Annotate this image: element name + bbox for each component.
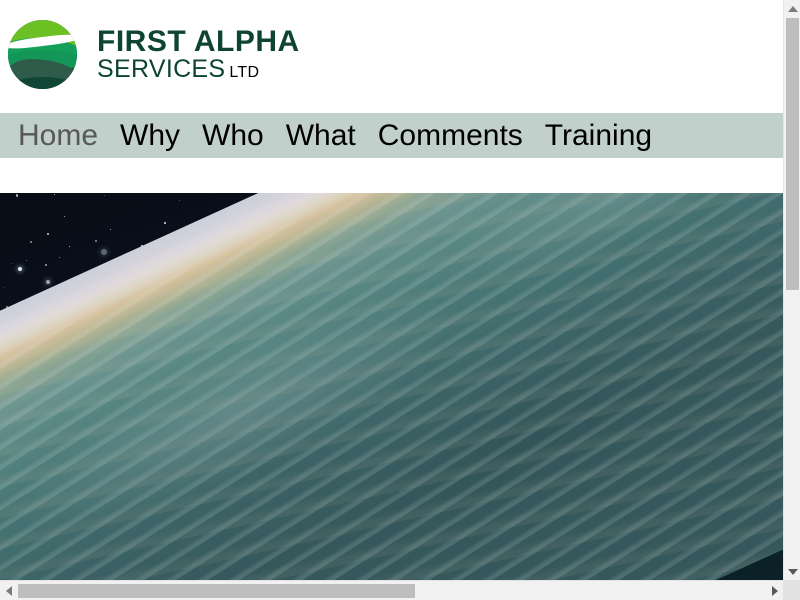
vertical-scrollbar-thumb[interactable] [786, 18, 799, 290]
star-dot [4, 287, 5, 288]
nav-item-training[interactable]: Training [545, 121, 652, 151]
star-dot [46, 280, 50, 284]
scroll-left-arrow-icon[interactable] [0, 581, 17, 600]
star-dot [95, 240, 97, 242]
star-dot [47, 233, 50, 236]
scroll-down-arrow-icon[interactable] [784, 563, 800, 580]
brand-text: FIRST ALPHA SERVICESLTD [97, 27, 300, 82]
vertical-scrollbar[interactable] [783, 0, 800, 580]
star-dot [104, 195, 105, 196]
arrow-up-glyph [788, 6, 798, 12]
star-dot [30, 241, 32, 243]
site-header: FIRST ALPHA SERVICESLTD [0, 0, 783, 113]
brand-name-secondary: SERVICES [97, 55, 225, 83]
arrow-right-glyph [772, 586, 778, 596]
scrollbar-corner [783, 580, 800, 600]
arrow-left-glyph [6, 586, 12, 596]
nav-item-who[interactable]: Who [202, 121, 264, 151]
brand-name-primary: FIRST ALPHA [97, 27, 300, 57]
horizontal-scrollbar[interactable] [0, 580, 783, 600]
brand-name-secondary-row: SERVICESLTD [97, 57, 300, 82]
arrow-down-glyph [788, 569, 798, 575]
star-dot [64, 216, 65, 217]
star-dot [69, 246, 70, 247]
brand-name-suffix: LTD [229, 64, 259, 81]
star-dot [59, 257, 60, 258]
star-dot [179, 200, 180, 201]
page-content: FIRST ALPHA SERVICESLTD Home Why Who Wha… [0, 0, 783, 580]
star-dot [45, 264, 47, 266]
star-dot [12, 263, 13, 264]
nav-item-why[interactable]: Why [120, 121, 180, 151]
main-navigation: Home Why Who What Comments Training [0, 113, 783, 158]
horizontal-scrollbar-thumb[interactable] [18, 584, 415, 598]
star-dot [54, 194, 56, 196]
star-dot [26, 260, 27, 261]
scroll-up-arrow-icon[interactable] [784, 0, 800, 17]
nav-item-comments[interactable]: Comments [378, 121, 523, 151]
nav-item-home[interactable]: Home [18, 121, 98, 151]
nav-item-what[interactable]: What [286, 121, 356, 151]
browser-viewport: FIRST ALPHA SERVICESLTD Home Why Who Wha… [0, 0, 800, 600]
star-dot [101, 249, 107, 255]
star-dot [110, 229, 111, 230]
green-globe-logo-icon [8, 20, 77, 89]
star-dot [18, 267, 22, 271]
hero-banner-image [0, 193, 783, 580]
star-dot [164, 222, 166, 224]
brand-lockup[interactable]: FIRST ALPHA SERVICESLTD [8, 20, 300, 89]
scroll-right-arrow-icon[interactable] [766, 581, 783, 600]
star-dot [16, 194, 19, 197]
